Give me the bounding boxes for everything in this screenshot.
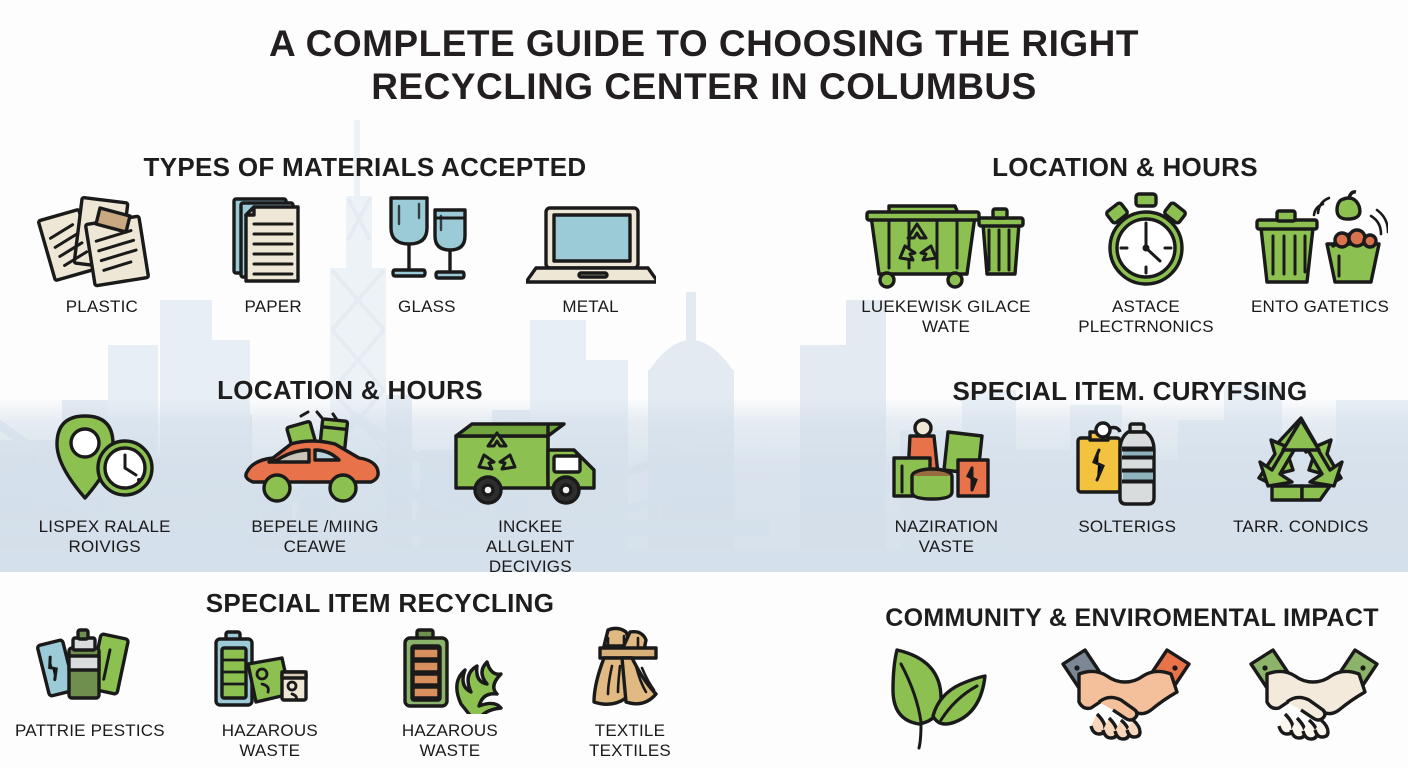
item-label: BEPELE /MIING CEAWE <box>240 517 390 557</box>
section-items-location-hours-top: LUEKEWISK GILACE WATE <box>846 190 1394 337</box>
item-label: NAZIRATION VASTE <box>871 517 1021 557</box>
page-title-line-2: RECYCLING CENTER IN COLUMBUS <box>0 65 1408 108</box>
item-label: PATTRIE PESTICS <box>15 721 165 741</box>
trash-compost-icon <box>1253 190 1388 290</box>
item-inckee-allglent-decivigs[interactable]: INCKEE ALLGLENT DECIVIGS <box>450 410 610 577</box>
item-label: METAL <box>562 297 618 317</box>
handshake-green-icon <box>1249 640 1379 750</box>
item-ento-gatetics[interactable]: ENTO GATETICS <box>1251 190 1389 317</box>
clipboard-bottle-icon <box>1072 414 1182 510</box>
section-items-location-hours-mid: LISPEX RALALE ROIVIGS <box>0 410 640 577</box>
page-title-line-1: A COMPLETE GUIDE TO CHOOSING THE RIGHT <box>0 22 1408 65</box>
item-leaf[interactable] <box>885 640 1003 750</box>
section-items-materials: PLASTIC PA <box>10 190 680 317</box>
paper-stack-icon <box>218 190 328 290</box>
infographic-canvas: A COMPLETE GUIDE TO CHOOSING THE RIGHT R… <box>0 0 1408 768</box>
item-pattrie-pestics[interactable]: PATTRIE PESTICS <box>15 626 165 741</box>
item-label: LISPEX RALALE ROIVIGS <box>30 517 180 557</box>
stopwatch-icon <box>1094 190 1198 290</box>
item-astace-plectrnonics[interactable]: ASTACE PLECTRNONICS <box>1051 190 1241 337</box>
section-heading-special-item-recycling: SPECIAL ITEM RECYCLING <box>0 588 760 619</box>
recycle-symbol-icon <box>1248 414 1354 510</box>
section-items-special-item-recycling: PATTRIE PESTICS <box>0 626 720 761</box>
item-label: PLASTIC <box>66 297 138 317</box>
item-label: TEXTILE TEXTILES <box>555 721 705 761</box>
section-items-special-curbside: NAZIRATION VASTE <box>846 414 1394 557</box>
section-heading-community-impact: COMMUNITY & ENVIROMENTAL IMPACT <box>856 604 1408 633</box>
textile-bundle-icon <box>578 626 682 714</box>
section-heading-location-hours-top: LOCATION & HOURS <box>860 152 1390 183</box>
item-hazarous-waste-1[interactable]: HAZAROUS WASTE <box>195 626 345 761</box>
item-label: HAZAROUS WASTE <box>375 721 525 761</box>
glasses-icon <box>377 190 477 290</box>
item-label: SOLTERIGS <box>1078 517 1176 537</box>
handshake-orange-icon <box>1061 640 1191 750</box>
item-paper[interactable]: PAPER <box>218 190 328 317</box>
item-label: HAZAROUS WASTE <box>195 721 345 761</box>
leaf-icon <box>885 640 1003 750</box>
item-textile-textiles[interactable]: TEXTILE TEXTILES <box>555 626 705 761</box>
section-heading-location-hours-mid: LOCATION & HOURS <box>0 375 700 406</box>
mixed-waste-icon <box>888 414 1004 510</box>
item-solterigs[interactable]: SOLTERIGS <box>1072 414 1182 537</box>
item-label: ENTO GATETICS <box>1251 297 1389 317</box>
section-items-community-impact <box>856 640 1408 750</box>
item-handshake-green[interactable] <box>1249 640 1379 750</box>
page-title: A COMPLETE GUIDE TO CHOOSING THE RIGHT R… <box>0 22 1408 108</box>
item-luekewisk-gilace-wate[interactable]: LUEKEWISK GILACE WATE <box>851 190 1041 337</box>
battery-leaf-icon <box>395 626 505 714</box>
item-nazration-vaste[interactable]: NAZIRATION VASTE <box>871 414 1021 557</box>
section-heading-materials: TYPES OF MATERIALS ACCEPTED <box>0 152 730 183</box>
item-label: INCKEE ALLGLENT DECIVIGS <box>455 517 605 577</box>
item-label: GLASS <box>398 297 456 317</box>
item-plastic[interactable]: PLASTIC <box>34 190 169 317</box>
papers-icon <box>34 190 169 290</box>
item-label: TARR. CONDICS <box>1233 517 1368 537</box>
battery-pack-icon <box>212 626 328 714</box>
item-handshake-orange[interactable] <box>1061 640 1191 750</box>
spray-cans-icon <box>35 626 145 714</box>
section-heading-special-curbside: SPECIAL ITEM. CURYFSING <box>860 376 1400 407</box>
item-label: ASTACE PLECTRNONICS <box>1051 297 1241 337</box>
laptop-icon <box>526 190 656 290</box>
item-lispex-ralale-roivigs[interactable]: LISPEX RALALE ROIVIGS <box>30 410 180 557</box>
item-bepele-miing-ceawe[interactable]: BEPELE /MIING CEAWE <box>239 410 391 557</box>
map-pin-clock-icon <box>43 410 167 510</box>
item-tarr-condics[interactable]: TARR. CONDICS <box>1233 414 1368 537</box>
item-hazarous-waste-2[interactable]: HAZAROUS WASTE <box>375 626 525 761</box>
item-glass[interactable]: GLASS <box>377 190 477 317</box>
dumpster-bin-icon <box>861 190 1031 290</box>
car-drop-off-icon <box>239 410 391 510</box>
item-metal[interactable]: METAL <box>526 190 656 317</box>
item-label: PAPER <box>244 297 301 317</box>
recycling-truck-icon <box>450 410 610 510</box>
item-label: LUEKEWISK GILACE WATE <box>851 297 1041 337</box>
